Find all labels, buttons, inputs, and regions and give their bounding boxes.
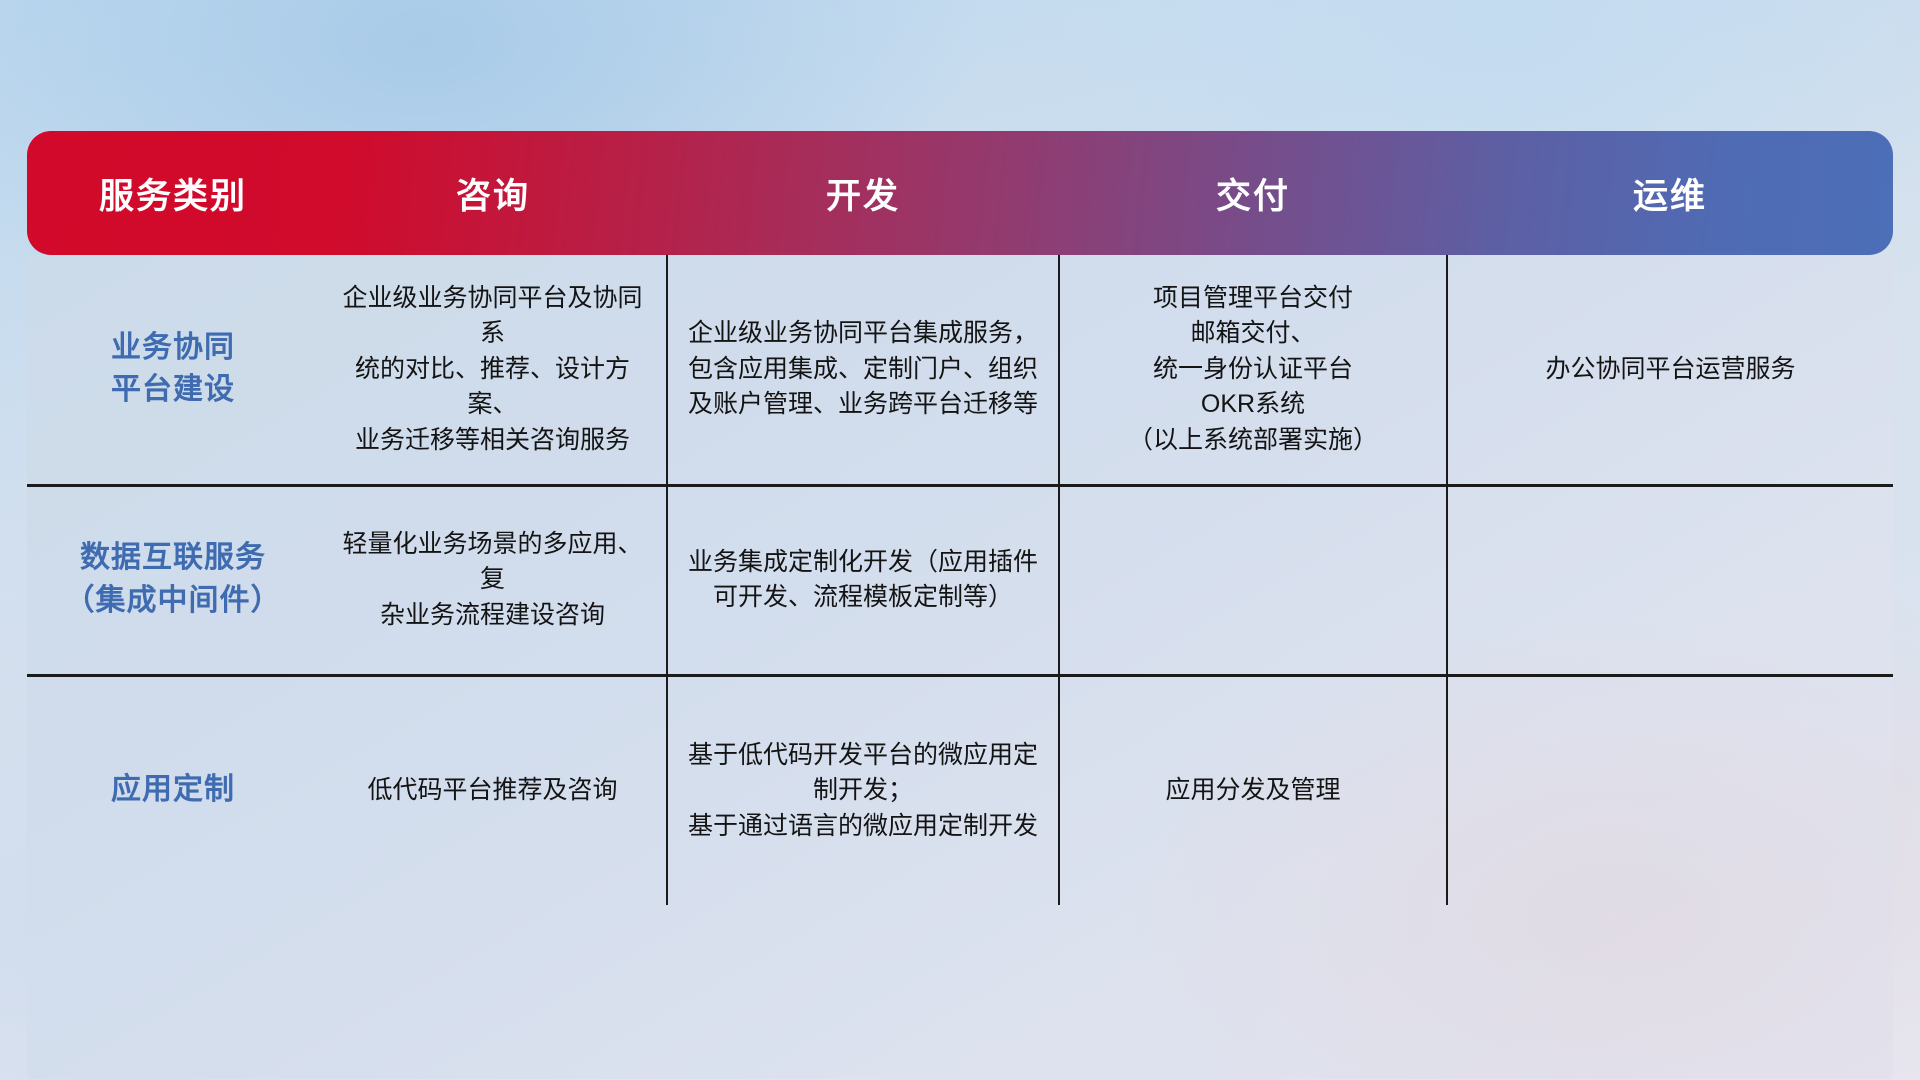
row-1-operations-text: 办公协同平台运营服务 [1464,352,1877,388]
table-row: 业务协同 平台建设 企业级业务协同平台及协同系 统的对比、推荐、设计方案、 业务… [27,255,1893,485]
row-2-development-text: 业务集成定制化开发（应用插件 可开发、流程模板定制等） [684,545,1042,616]
service-matrix-table: 服务类别 咨询 开发 交付 运维 业务协同 平台建设 [27,131,1893,905]
row-1-category-text: 业务协同 平台建设 [43,327,303,412]
row-operations-cell [1447,485,1893,675]
service-matrix-container: 服务类别 咨询 开发 交付 运维 业务协同 平台建设 [27,131,1893,951]
table-header: 服务类别 咨询 开发 交付 运维 [27,131,1893,255]
header-consulting-label: 咨询 [456,177,530,216]
row-3-development-text: 基于低代码开发平台的微应用定 制开发； 基于通过语言的微应用定制开发 [684,738,1042,845]
row-development-cell: 企业级业务协同平台集成服务， 包含应用集成、定制门户、组织 及账户管理、业务跨平… [667,255,1059,485]
row-2-category-text: 数据互联服务 （集成中间件） [43,537,303,622]
row-delivery-cell [1059,485,1447,675]
table-row: 应用定制 低代码平台推荐及咨询 基于低代码开发平台的微应用定 制开发； 基于通过… [27,675,1893,905]
header-operations-label: 运维 [1633,177,1707,216]
header-consulting: 咨询 [319,131,667,255]
header-delivery-label: 交付 [1216,177,1290,216]
row-1-consulting-text: 企业级业务协同平台及协同系 统的对比、推荐、设计方案、 业务迁移等相关咨询服务 [335,281,650,459]
row-1-delivery-text: 项目管理平台交付 邮箱交付、 统一身份认证平台 OKR系统 （以上系统部署实施） [1076,281,1430,459]
row-3-consulting-text: 低代码平台推荐及咨询 [335,773,650,809]
row-delivery-cell: 项目管理平台交付 邮箱交付、 统一身份认证平台 OKR系统 （以上系统部署实施） [1059,255,1447,485]
row-3-delivery-text: 应用分发及管理 [1076,773,1430,809]
header-operations: 运维 [1447,131,1893,255]
row-consulting-cell: 低代码平台推荐及咨询 [319,675,667,905]
header-row: 服务类别 咨询 开发 交付 运维 [27,131,1893,255]
header-development: 开发 [667,131,1059,255]
row-operations-cell [1447,675,1893,905]
row-category-cell: 数据互联服务 （集成中间件） [27,485,319,675]
header-delivery: 交付 [1059,131,1447,255]
row-delivery-cell: 应用分发及管理 [1059,675,1447,905]
row-category-cell: 应用定制 [27,675,319,905]
row-2-consulting-text: 轻量化业务场景的多应用、复 杂业务流程建设咨询 [335,527,650,634]
row-development-cell: 基于低代码开发平台的微应用定 制开发； 基于通过语言的微应用定制开发 [667,675,1059,905]
row-consulting-cell: 企业级业务协同平台及协同系 统的对比、推荐、设计方案、 业务迁移等相关咨询服务 [319,255,667,485]
row-category-cell: 业务协同 平台建设 [27,255,319,485]
table-body: 业务协同 平台建设 企业级业务协同平台及协同系 统的对比、推荐、设计方案、 业务… [27,255,1893,905]
header-service-category-label: 服务类别 [99,177,247,216]
header-development-label: 开发 [826,177,900,216]
row-development-cell: 业务集成定制化开发（应用插件 可开发、流程模板定制等） [667,485,1059,675]
row-1-development-text: 企业级业务协同平台集成服务， 包含应用集成、定制门户、组织 及账户管理、业务跨平… [684,316,1042,423]
row-operations-cell: 办公协同平台运营服务 [1447,255,1893,485]
header-service-category: 服务类别 [27,131,319,255]
row-consulting-cell: 轻量化业务场景的多应用、复 杂业务流程建设咨询 [319,485,667,675]
table-row: 数据互联服务 （集成中间件） 轻量化业务场景的多应用、复 杂业务流程建设咨询 业… [27,485,1893,675]
row-3-category-text: 应用定制 [43,769,303,812]
